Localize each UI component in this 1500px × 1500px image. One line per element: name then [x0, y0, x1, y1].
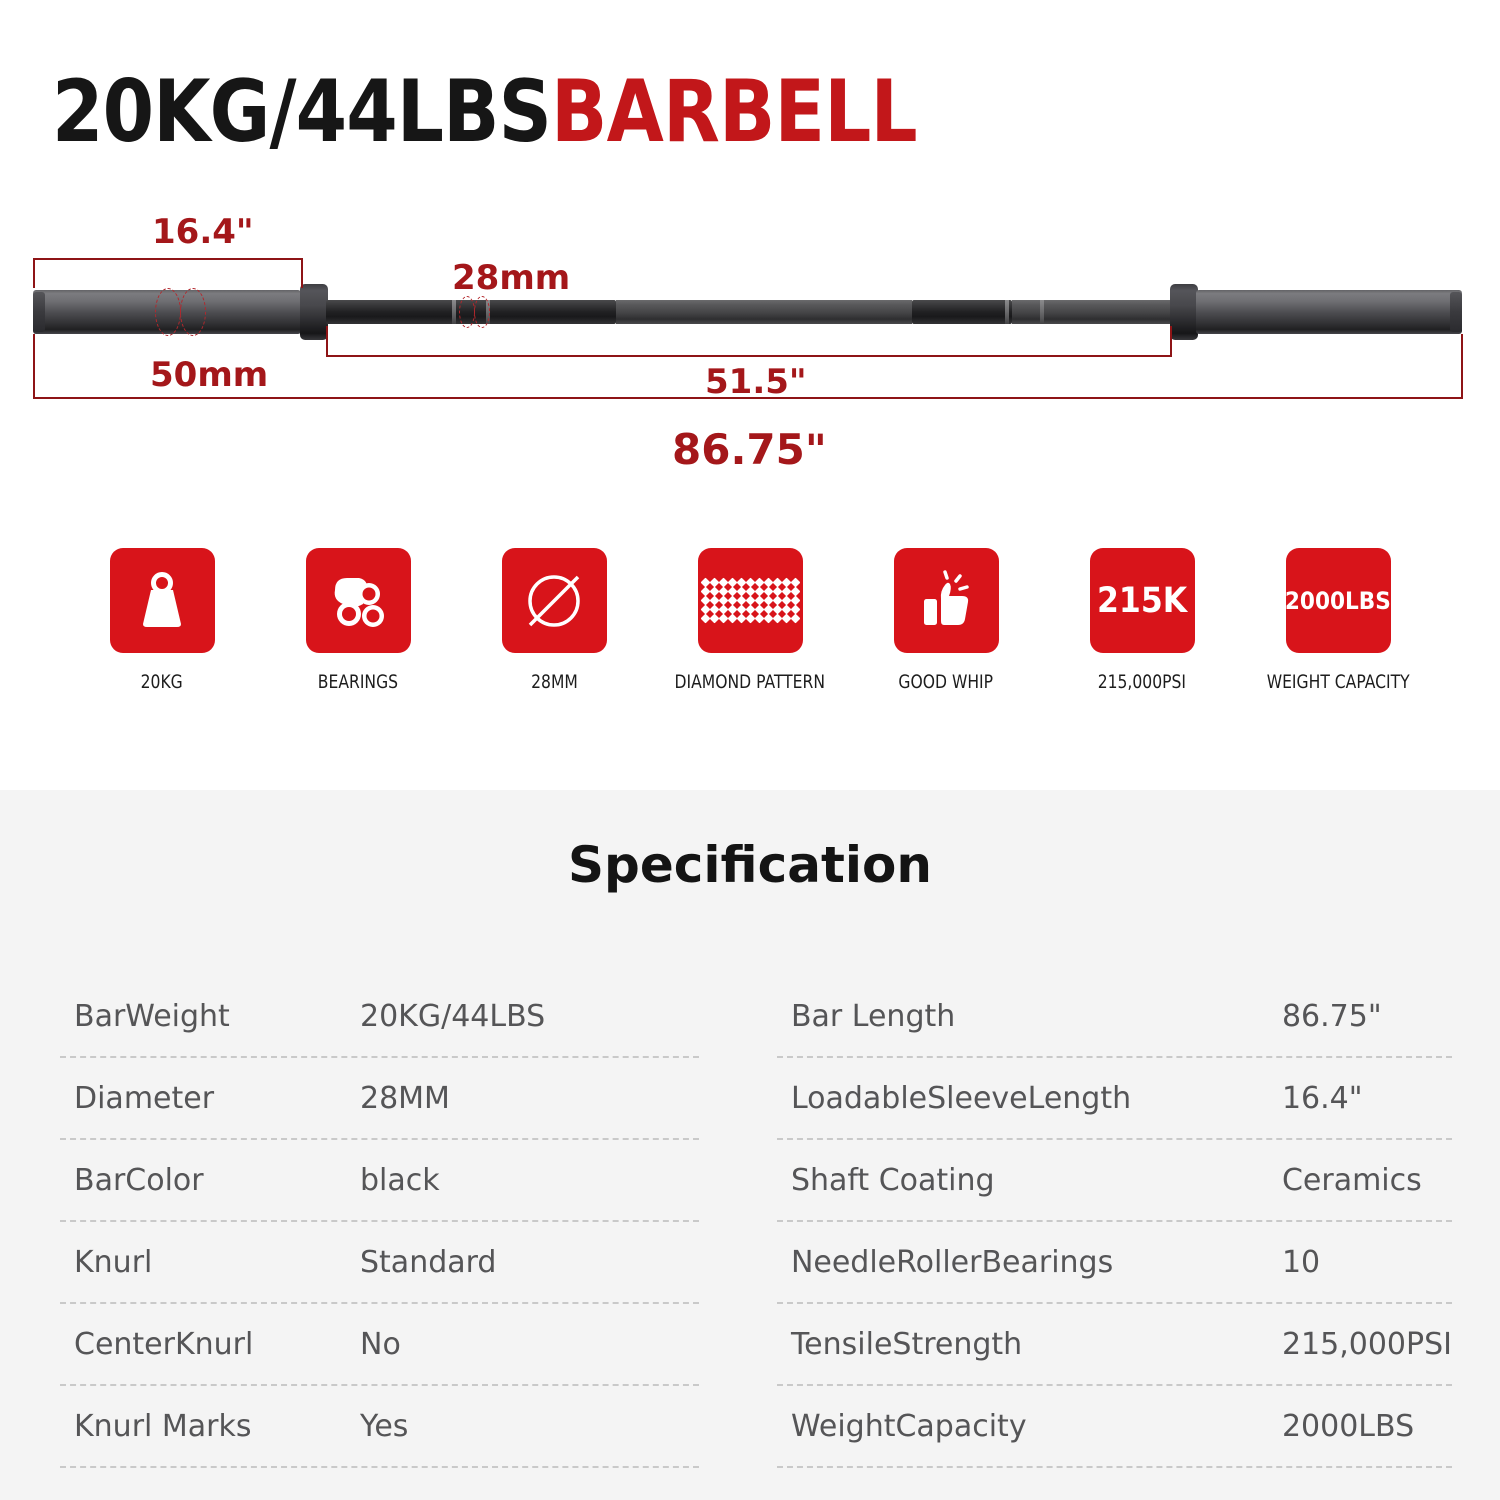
table-row: Knurl Standard [60, 1222, 699, 1304]
right-sleeve [1196, 290, 1462, 334]
spec-value: black [360, 1163, 440, 1198]
spec-key: WeightCapacity [777, 1409, 1282, 1444]
barbell-diagram: 16.4" 28mm 50mm 51.5" 86.75" [0, 200, 1500, 500]
weight-icon [131, 570, 193, 632]
feature-item-tensile-strength[interactable]: 215K 215,000PSI [1044, 548, 1240, 748]
spec-key: Bar Length [777, 999, 1282, 1034]
spec-value: 2000LBS [1282, 1409, 1414, 1444]
sleeve-diameter-ellipse-a [155, 288, 181, 336]
bar-shaft-knurl-left [616, 300, 912, 324]
right-collar [1170, 284, 1198, 340]
table-row: NeedleRollerBearings 10 [777, 1222, 1452, 1304]
thumbs-up-icon [914, 569, 978, 633]
weight-badge [110, 548, 215, 653]
shaft-diameter-label: 28mm [452, 258, 570, 298]
feature-item-bearings[interactable]: BEARINGS [260, 548, 456, 748]
sleeve-diameter-label: 50mm [150, 355, 268, 395]
spec-key: Knurl [60, 1245, 360, 1280]
table-row: Diameter 28MM [60, 1058, 699, 1140]
table-row: Knurl Marks Yes [60, 1386, 699, 1468]
diamond-pattern-badge [698, 548, 803, 653]
table-row: WeightCapacity 2000LBS [777, 1386, 1452, 1468]
page-title-product: BARBELL [551, 62, 917, 162]
left-collar [300, 284, 328, 340]
total-length-dim-line [33, 397, 1463, 399]
knurl-mark-1 [452, 300, 456, 324]
spec-key: CenterKnurl [60, 1327, 360, 1362]
spec-key: Diameter [60, 1081, 360, 1116]
diameter-icon [521, 568, 587, 634]
sleeve-length-dim-line [33, 258, 303, 260]
table-row: CenterKnurl No [60, 1304, 699, 1386]
tensile-strength-icon: 215K [1097, 581, 1187, 621]
table-row: TensileStrength 215,000PSI [777, 1304, 1452, 1386]
feature-label-tensile-strength: 215,000PSI [1098, 670, 1186, 694]
shaft-length-tick-left [326, 326, 328, 356]
bar-shaft-right [912, 300, 1012, 324]
spec-column-left: BarWeight 20KG/44LBS Diameter 28MM BarCo… [60, 976, 699, 1468]
feature-label-good-whip: GOOD WHIP [899, 670, 994, 694]
page-title: 20KG/44LBSBARBELL [52, 62, 917, 162]
spec-value: 28MM [360, 1081, 450, 1116]
feature-item-weight-capacity[interactable]: 2000LBS WEIGHT CAPACITY [1240, 548, 1436, 748]
hero-section: 20KG/44LBSBARBELL 16.4" 28mm [0, 0, 1500, 790]
feature-icons-row: 20KG BEARINGS [0, 548, 1500, 748]
spec-column-right: Bar Length 86.75" LoadableSleeveLength 1… [777, 976, 1452, 1468]
feature-label-diamond-pattern: DIAMOND PATTERN [675, 670, 825, 694]
feature-item-diamond-pattern[interactable]: DIAMOND PATTERN [652, 548, 848, 748]
knurl-mark-4 [1040, 300, 1044, 324]
table-row: BarColor black [60, 1140, 699, 1222]
feature-label-bearings: BEARINGS [318, 670, 398, 694]
spec-value: No [360, 1327, 401, 1362]
spec-key: TensileStrength [777, 1327, 1282, 1362]
table-row: LoadableSleeveLength 16.4" [777, 1058, 1452, 1140]
spec-value: Standard [360, 1245, 496, 1280]
spec-key: BarColor [60, 1163, 360, 1198]
spec-key: NeedleRollerBearings [777, 1245, 1282, 1280]
good-whip-badge [894, 548, 999, 653]
feature-label-20kg: 20KG [141, 670, 183, 694]
feature-label-28mm: 28MM [531, 670, 578, 694]
left-sleeve-end-cap [33, 292, 45, 332]
spec-value: 16.4" [1282, 1081, 1363, 1116]
spec-key: Knurl Marks [60, 1409, 360, 1444]
feature-item-good-whip[interactable]: GOOD WHIP [848, 548, 1044, 748]
spec-value: 10 [1282, 1245, 1320, 1280]
table-row: Shaft Coating Ceramics [777, 1140, 1452, 1222]
spec-value: Ceramics [1282, 1163, 1422, 1198]
specification-section: Specification BarWeight 20KG/44LBS Diame… [0, 790, 1500, 1500]
shaft-diameter-ellipse-b [474, 296, 490, 328]
spec-value: Yes [360, 1409, 408, 1444]
spec-value: 20KG/44LBS [360, 999, 545, 1034]
spec-value: 86.75" [1282, 999, 1382, 1034]
knurl-mark-3 [1005, 300, 1009, 324]
sleeve-length-tick-right [301, 258, 303, 288]
shaft-length-label: 51.5" [705, 362, 807, 402]
sleeve-diameter-ellipse-b [180, 288, 206, 336]
specification-table: BarWeight 20KG/44LBS Diameter 28MM BarCo… [60, 976, 1452, 1468]
tensile-strength-badge: 215K [1090, 548, 1195, 653]
spec-key: LoadableSleeveLength [777, 1081, 1282, 1116]
spec-key: BarWeight [60, 999, 360, 1034]
right-sleeve-end-cap [1450, 292, 1462, 332]
bearings-icon [325, 570, 391, 632]
total-length-tick-right [1461, 334, 1463, 398]
shaft-length-dim-line [326, 355, 1172, 357]
sleeve-length-tick-left [33, 258, 35, 288]
diameter-badge [502, 548, 607, 653]
weight-capacity-badge: 2000LBS [1286, 548, 1391, 653]
shaft-length-tick-right [1170, 326, 1172, 356]
weight-capacity-icon: 2000LBS [1286, 587, 1391, 615]
bearings-badge [306, 548, 411, 653]
total-length-label: 86.75" [672, 425, 827, 474]
shaft-diameter-ellipse-a [459, 296, 475, 328]
page-title-weight: 20KG/44LBS [52, 62, 551, 162]
spec-value: 215,000PSI [1282, 1327, 1452, 1362]
feature-item-20kg[interactable]: 20KG [64, 548, 260, 748]
feature-label-weight-capacity: WEIGHT CAPACITY [1267, 670, 1410, 694]
diamond-pattern-icon [702, 579, 799, 622]
feature-item-28mm[interactable]: 28MM [456, 548, 652, 748]
total-length-tick-left [33, 334, 35, 398]
table-row: Bar Length 86.75" [777, 976, 1452, 1058]
sleeve-length-label: 16.4" [152, 212, 254, 252]
table-row: BarWeight 20KG/44LBS [60, 976, 699, 1058]
spec-key: Shaft Coating [777, 1163, 1282, 1198]
bar-shaft-knurl-right [1012, 300, 1172, 324]
specification-title: Specification [0, 790, 1500, 894]
